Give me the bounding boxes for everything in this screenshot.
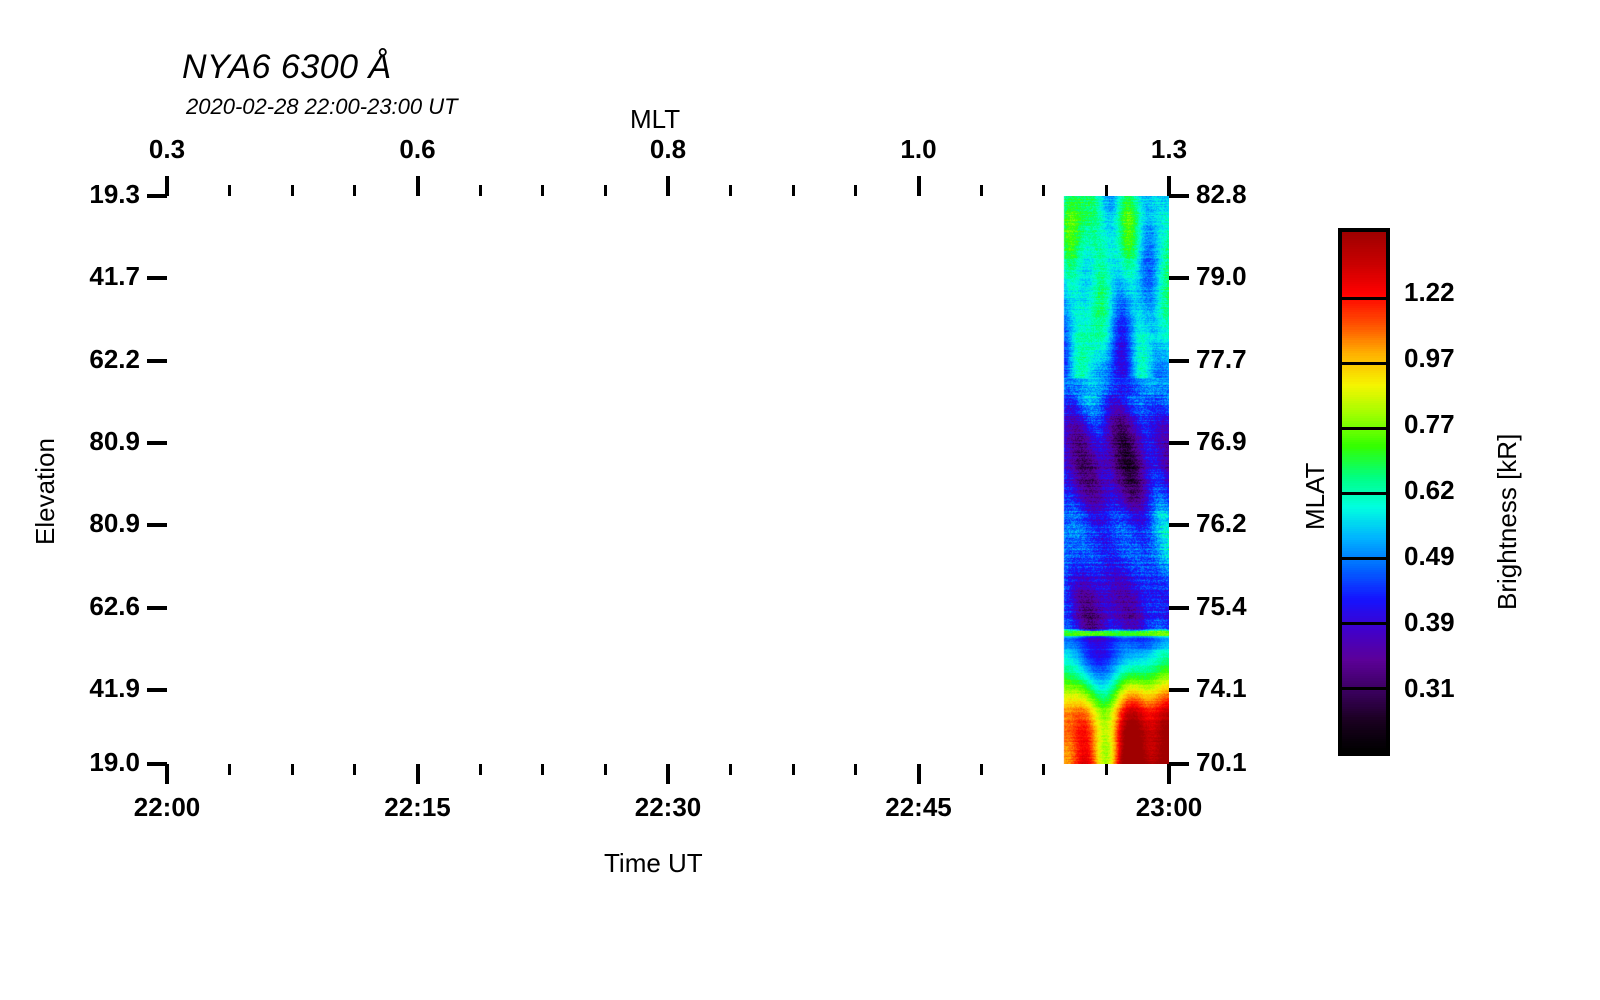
major-tick [917, 176, 921, 196]
major-tick [1169, 523, 1189, 527]
tick-label: 76.9 [1196, 426, 1247, 457]
minor-tick [353, 185, 356, 196]
tick-label: 0.8 [650, 134, 686, 165]
major-tick [147, 441, 167, 445]
tick-label: 70.1 [1196, 747, 1247, 778]
tick-label: 0.77 [1404, 409, 1455, 440]
tick-label: 19.0 [89, 747, 140, 778]
tick-label: 0.31 [1404, 673, 1455, 704]
major-tick [165, 176, 169, 196]
colorbar-divider [1342, 492, 1386, 495]
colorbar-divider [1342, 427, 1386, 430]
tick-label: 19.3 [89, 179, 140, 210]
tick-label: 76.2 [1196, 508, 1247, 539]
tick-label: 0.97 [1404, 343, 1455, 374]
minor-tick [1105, 764, 1108, 775]
tick-label: 0.49 [1404, 541, 1455, 572]
major-tick [147, 606, 167, 610]
major-tick [666, 176, 670, 196]
tick-label: 80.9 [89, 508, 140, 539]
colorbar[interactable] [1338, 228, 1390, 756]
major-tick [147, 276, 167, 280]
minor-tick [729, 764, 732, 775]
tick-label: 62.6 [89, 591, 140, 622]
major-tick [1169, 276, 1189, 280]
major-tick [1167, 764, 1171, 784]
colorbar-divider [1342, 362, 1386, 365]
minor-tick [228, 185, 231, 196]
plot-area[interactable] [167, 196, 1169, 764]
minor-tick [980, 764, 983, 775]
minor-tick [228, 764, 231, 775]
mlt-tick-marks [167, 176, 1169, 196]
tick-label: 74.1 [1196, 673, 1247, 704]
tick-label: 82.8 [1196, 179, 1247, 210]
mlat-tick-marks [1169, 196, 1189, 764]
tick-label: 41.9 [89, 673, 140, 704]
colorbar-segment [1342, 750, 1386, 754]
minor-tick [604, 764, 607, 775]
minor-tick [1042, 764, 1045, 775]
major-tick [147, 359, 167, 363]
major-tick [1167, 176, 1171, 196]
time-axis-label: Time UT [604, 848, 703, 879]
minor-tick [541, 185, 544, 196]
minor-tick [479, 764, 482, 775]
mlat-axis-label: MLAT [1300, 463, 1331, 530]
elevation-tick-marks [147, 196, 167, 764]
major-tick [1169, 688, 1189, 692]
major-tick [147, 194, 167, 198]
minor-tick [1105, 185, 1108, 196]
major-tick [147, 688, 167, 692]
page-subtitle: 2020-02-28 22:00-23:00 UT [186, 94, 458, 120]
minor-tick [479, 185, 482, 196]
tick-label: 77.7 [1196, 344, 1247, 375]
minor-tick [291, 764, 294, 775]
tick-label: 1.3 [1151, 134, 1187, 165]
tick-label: 0.62 [1404, 475, 1455, 506]
tick-label: 0.39 [1404, 607, 1455, 638]
tick-label: 75.4 [1196, 591, 1247, 622]
minor-tick [541, 764, 544, 775]
elevation-axis-label: Elevation [30, 438, 61, 545]
minor-tick [291, 185, 294, 196]
brightness-axis-label: Brightness [kR] [1492, 434, 1523, 610]
tick-label: 62.2 [89, 344, 140, 375]
minor-tick [353, 764, 356, 775]
colorbar-divider [1342, 297, 1386, 300]
major-tick [666, 764, 670, 784]
major-tick [416, 176, 420, 196]
colorbar-divider [1342, 557, 1386, 560]
minor-tick [980, 185, 983, 196]
keogram-image [167, 196, 1169, 764]
major-tick [416, 764, 420, 784]
major-tick [165, 764, 169, 784]
minor-tick [604, 185, 607, 196]
tick-label: 22:15 [384, 792, 451, 823]
time-tick-marks [167, 764, 1169, 784]
tick-label: 1.0 [900, 134, 936, 165]
major-tick [1169, 606, 1189, 610]
tick-label: 79.0 [1196, 261, 1247, 292]
major-tick [917, 764, 921, 784]
tick-label: 22:45 [885, 792, 952, 823]
major-tick [1169, 762, 1189, 766]
tick-label: 22:30 [635, 792, 702, 823]
major-tick [147, 762, 167, 766]
minor-tick [729, 185, 732, 196]
mlt-axis-label: MLT [630, 104, 680, 135]
tick-label: 41.7 [89, 261, 140, 292]
tick-label: 23:00 [1136, 792, 1203, 823]
major-tick [1169, 441, 1189, 445]
major-tick [1169, 194, 1189, 198]
minor-tick [854, 764, 857, 775]
minor-tick [792, 185, 795, 196]
minor-tick [792, 764, 795, 775]
colorbar-divider [1342, 622, 1386, 625]
colorbar-divider [1342, 687, 1386, 690]
tick-label: 80.9 [89, 426, 140, 457]
tick-label: 0.6 [399, 134, 435, 165]
tick-label: 0.3 [149, 134, 185, 165]
major-tick [1169, 359, 1189, 363]
tick-label: 1.22 [1404, 277, 1455, 308]
tick-label: 22:00 [134, 792, 201, 823]
minor-tick [1042, 185, 1045, 196]
minor-tick [854, 185, 857, 196]
major-tick [147, 523, 167, 527]
page-title: NYA6 6300 Å [182, 48, 392, 87]
